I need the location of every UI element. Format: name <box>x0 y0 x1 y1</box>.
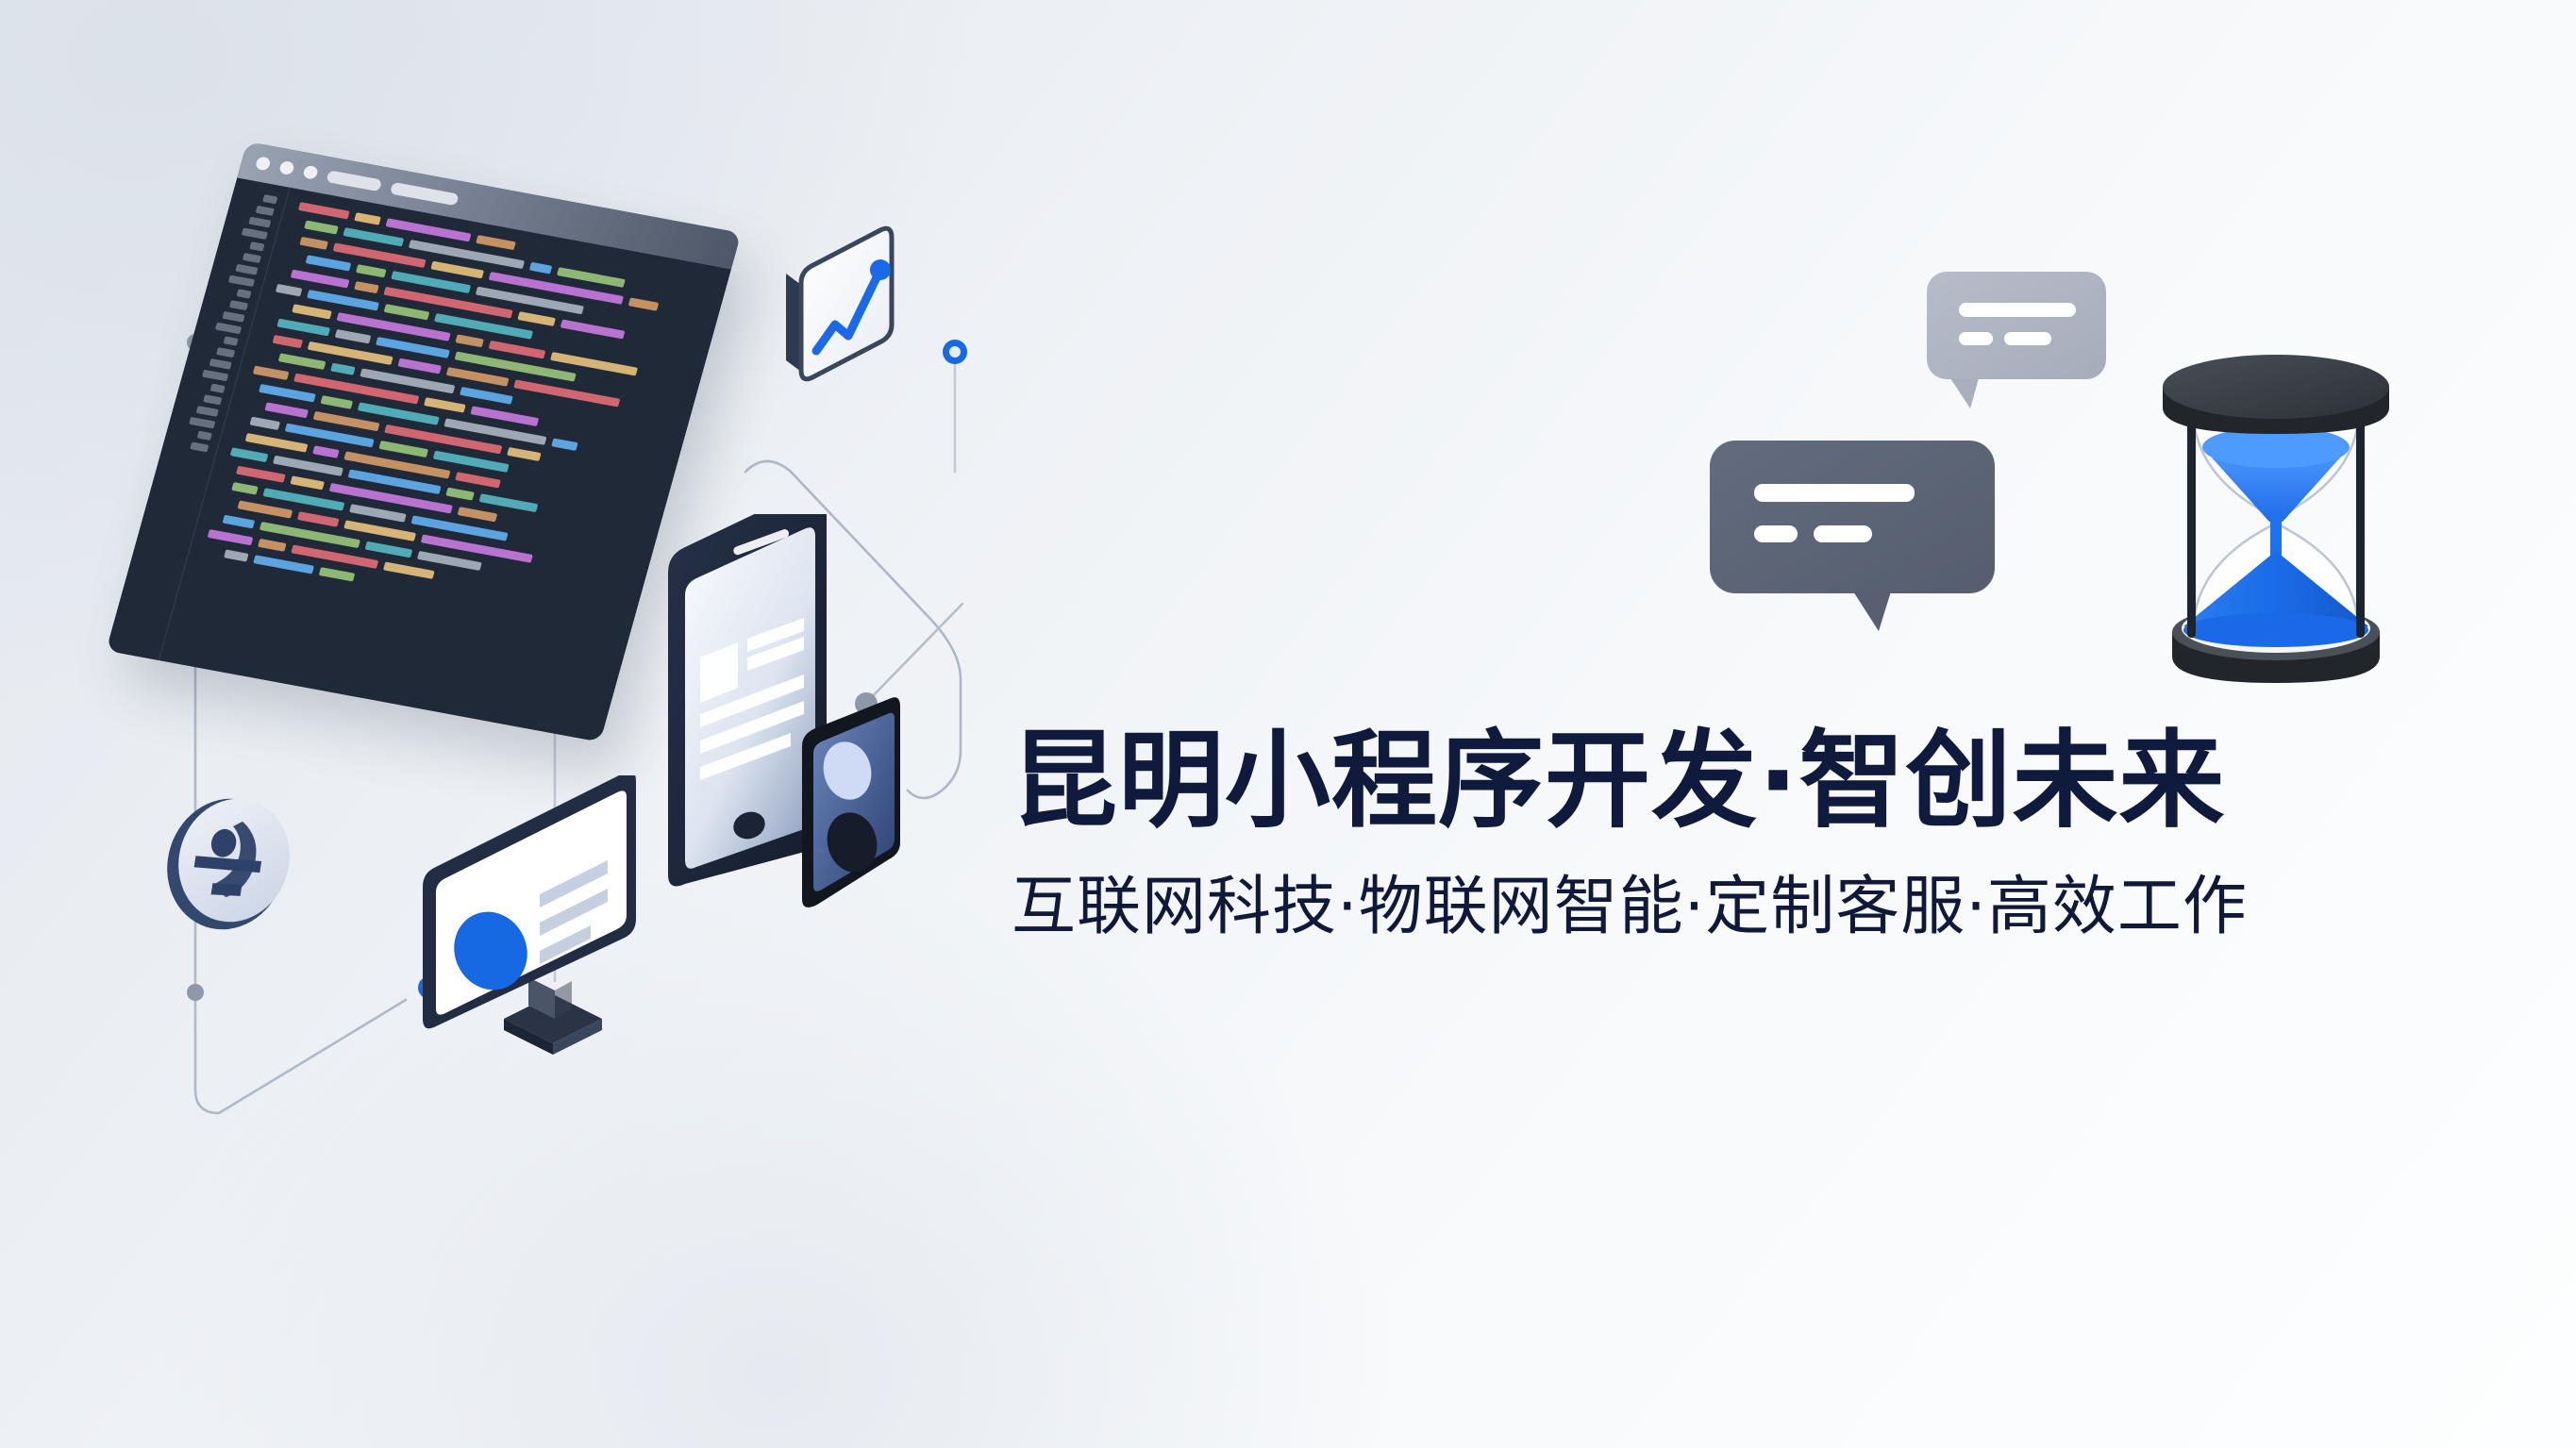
trend-endpoint-dot <box>870 259 891 280</box>
code-token <box>231 482 259 495</box>
hourglass-cap-top <box>2163 355 2389 419</box>
code-token <box>460 387 513 405</box>
traffic-light-zoom-icon[interactable] <box>302 165 319 180</box>
bubble-text-line <box>1754 484 1915 502</box>
code-token <box>223 515 256 529</box>
editor-line-number <box>209 358 231 370</box>
editor-line-number <box>202 370 228 382</box>
code-token <box>424 397 466 413</box>
code-token <box>458 507 498 522</box>
code-token <box>253 555 314 574</box>
editor-line-number <box>235 264 258 275</box>
code-token <box>299 237 328 250</box>
page-subtitle: 互联网科技·物联网智能·定制客服·高效工作 <box>1012 867 2389 947</box>
bubble-text-line <box>1754 525 1798 542</box>
code-token <box>479 493 539 512</box>
small-device <box>802 697 900 907</box>
chat-bubble-dark <box>1710 441 1995 593</box>
code-token <box>354 212 381 225</box>
code-token <box>517 311 556 326</box>
editor-line-number <box>228 275 255 288</box>
code-token <box>489 341 546 358</box>
code-token <box>446 367 510 387</box>
bubble-tail <box>1853 591 1891 631</box>
editor-line-number <box>256 206 275 216</box>
code-token <box>290 475 325 490</box>
code-token <box>430 261 484 279</box>
code-token <box>278 353 326 370</box>
page-title: 昆明小程序开发·智创未来 <box>1012 717 2389 846</box>
code-token <box>455 472 501 488</box>
code-token <box>384 304 430 320</box>
editor-line-number <box>248 217 271 228</box>
editor-line-number <box>222 311 244 323</box>
code-token <box>276 319 330 337</box>
bubble-text-line <box>1814 525 1872 542</box>
hero-banner: 昆明小程序开发·智创未来 互联网科技·物联网智能·定制客服·高效工作 <box>0 0 2576 1448</box>
code-token <box>245 433 309 453</box>
editor-line-number <box>243 253 261 263</box>
bubble-text-line <box>1959 303 2076 317</box>
code-token <box>356 264 387 277</box>
editor-line-number <box>236 289 251 298</box>
code-token <box>349 504 407 522</box>
code-token <box>354 281 379 293</box>
editor-line-number <box>203 394 222 405</box>
code-token <box>319 567 356 581</box>
code-token <box>628 297 660 310</box>
editor-line-number <box>210 384 226 393</box>
code-token <box>230 447 269 462</box>
code-token <box>208 529 254 545</box>
code-token <box>249 417 280 430</box>
code-token <box>507 447 542 461</box>
code-token <box>343 227 404 246</box>
code-token <box>455 334 484 347</box>
circular-badge-icon <box>140 772 319 951</box>
editor-line-number <box>242 227 268 240</box>
code-token <box>264 402 309 418</box>
code-token <box>321 395 354 409</box>
code-token <box>291 270 350 289</box>
bubble-text-line <box>1959 332 1993 345</box>
editor-line-number <box>215 323 242 335</box>
code-token <box>298 202 350 219</box>
code-token <box>397 358 442 374</box>
editor-line-number <box>189 417 215 429</box>
editor-tab[interactable] <box>326 170 383 191</box>
isometric-monitor <box>413 775 734 1068</box>
code-token <box>378 441 428 458</box>
code-token <box>306 255 352 271</box>
code-token <box>297 511 340 527</box>
bubble-tail <box>1950 378 1979 408</box>
code-token <box>529 262 553 275</box>
trend-chart-card <box>769 219 948 408</box>
chat-bubble-light <box>1927 272 2106 379</box>
editor-line-number <box>197 431 212 441</box>
code-token <box>330 363 356 375</box>
code-token <box>335 329 372 343</box>
code-token <box>236 466 286 483</box>
editor-line-number <box>249 241 264 251</box>
traffic-light-minimize-icon[interactable] <box>278 160 295 175</box>
code-token <box>276 284 303 297</box>
editor-line-number <box>216 347 235 358</box>
code-token <box>258 539 287 552</box>
code-token <box>365 541 413 558</box>
bubble-text-line <box>2004 332 2051 345</box>
code-token <box>476 235 516 250</box>
code-token <box>237 500 293 518</box>
banner-text-block: 昆明小程序开发·智创未来 互联网科技·物联网智能·定制客服·高效工作 <box>1012 717 2389 947</box>
hourglass <box>2134 332 2417 709</box>
code-token <box>304 221 339 235</box>
editor-line-number <box>262 194 277 204</box>
editor-line-number <box>229 300 248 310</box>
code-token <box>383 562 435 579</box>
traffic-light-close-icon[interactable] <box>255 156 272 171</box>
code-token <box>445 488 475 501</box>
editor-line-number <box>223 336 238 345</box>
code-token <box>551 438 578 451</box>
editor-tab[interactable] <box>390 181 460 206</box>
code-token <box>312 445 340 458</box>
code-token <box>292 304 332 319</box>
editor-line-number <box>190 441 209 452</box>
code-token <box>272 335 303 348</box>
code-token <box>253 366 290 380</box>
code-token <box>259 384 316 402</box>
code-token <box>224 549 249 561</box>
editor-line-number <box>196 406 219 417</box>
